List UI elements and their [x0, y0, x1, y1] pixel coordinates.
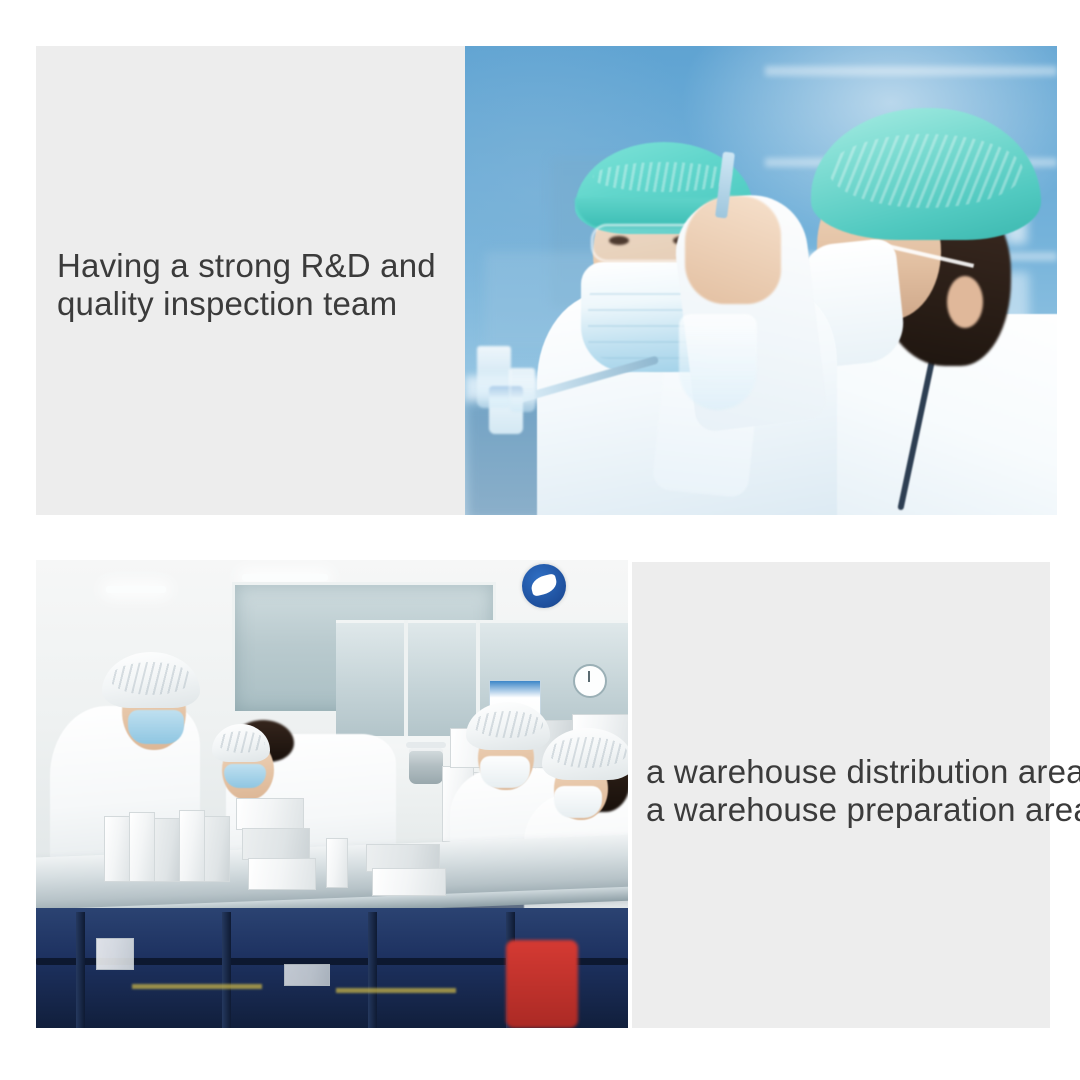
carton	[284, 964, 330, 986]
table-leg-3	[368, 912, 377, 1028]
lab-flask	[679, 314, 757, 410]
top-caption-panel: Having a strong R&D and quality inspecti…	[36, 46, 465, 515]
bottom-caption-panel: a warehouse distribution area a warehous…	[632, 562, 1050, 1028]
lab-photo	[465, 46, 1057, 515]
carton	[104, 816, 130, 882]
worker-red-garment	[506, 940, 578, 1028]
wall-clock-icon	[573, 664, 607, 698]
worker-1-mask	[128, 710, 184, 744]
company-logo-icon	[522, 564, 566, 608]
carton	[326, 838, 348, 888]
ceiling-light-2	[242, 574, 328, 581]
worker-4-mask	[554, 786, 602, 818]
worker-3-mask	[480, 756, 530, 788]
table-leg-2	[222, 912, 231, 1028]
carton	[372, 868, 446, 896]
ceiling-light-1	[106, 586, 166, 593]
carton	[204, 816, 230, 882]
bottom-caption-line-2: a warehouse preparation area	[646, 788, 1080, 832]
carton	[236, 798, 304, 830]
carton	[154, 818, 180, 882]
floor-marking-2	[336, 988, 456, 993]
floor-marking-1	[132, 984, 262, 989]
window-mullion-1	[404, 620, 408, 736]
lab-hand	[685, 196, 781, 304]
lab-beaker-small	[509, 368, 535, 412]
top-caption-line-2: quality inspection team	[57, 282, 397, 326]
worker-2-mask	[224, 764, 266, 788]
warehouse-photo	[36, 560, 628, 1028]
carton	[248, 858, 316, 890]
lab-technician-b-ear	[947, 276, 983, 328]
poster-root: Having a strong R&D and quality inspecti…	[0, 0, 1080, 1080]
carton	[179, 810, 205, 882]
carton	[96, 938, 134, 970]
carton	[242, 828, 310, 860]
table-leg-1	[76, 912, 85, 1028]
steel-pot-1	[409, 748, 443, 784]
lab-beaker-large	[477, 346, 511, 408]
lab-shelf-upper	[765, 66, 1057, 76]
carton	[129, 812, 155, 882]
lab-technician-a-eye-left	[609, 236, 629, 245]
